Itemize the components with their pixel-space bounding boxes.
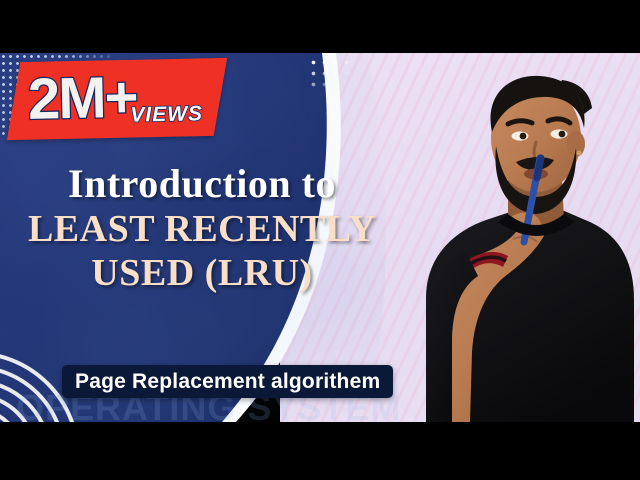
presenter-photo — [412, 66, 640, 422]
dot-grid-accent — [308, 57, 350, 91]
page-title: Introduction to LEAST RECENTLY USED (LRU… — [0, 161, 404, 295]
title-line-2: LEAST RECENTLY — [0, 207, 404, 251]
title-line-3: USED (LRU) — [0, 251, 404, 295]
letterbox-top — [0, 0, 640, 53]
subtitle-badge-label: Page Replacement algorithem — [75, 370, 380, 394]
title-line-1: Introduction to — [0, 161, 404, 207]
thumbnail-stage: Windows DOS R — [0, 53, 640, 422]
views-banner: 2M+ VIEWS — [13, 58, 221, 140]
subtitle-badge: Page Replacement algorithem — [62, 365, 393, 398]
video-thumbnail: Windows DOS R — [0, 0, 640, 480]
views-label: VIEWS — [130, 102, 203, 128]
views-count: 2M+ — [27, 59, 137, 139]
letterbox-bottom — [0, 422, 640, 480]
